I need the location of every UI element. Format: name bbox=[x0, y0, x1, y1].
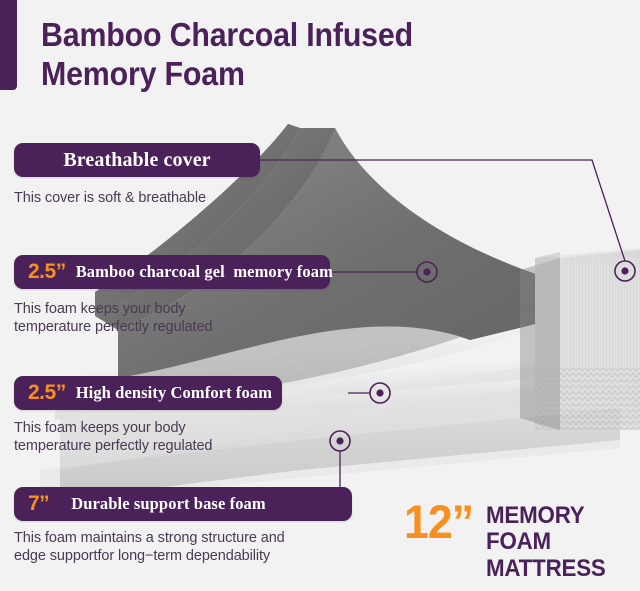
infographic-canvas: Bamboo Charcoal Infused Memory Foam Brea… bbox=[0, 0, 640, 591]
layer-thickness: 2.5” bbox=[28, 260, 66, 284]
layer-description-high-density-comfort: This foam keeps your body temperature pe… bbox=[14, 420, 284, 455]
product-size-lockup: 12” MEMORY FOAM MATTRESS bbox=[404, 500, 640, 582]
page-title: Bamboo Charcoal Infused Memory Foam bbox=[41, 16, 473, 94]
layer-badge-high-density-comfort[interactable]: 2.5” High density Comfort foam bbox=[14, 376, 282, 410]
marker-gel-foam bbox=[417, 262, 437, 282]
layer-badge-bamboo-charcoal-gel[interactable]: 2.5” Bamboo charcoal gel memory foam bbox=[14, 255, 330, 289]
layer-description-bamboo-charcoal-gel: This foam keeps your body temperature pe… bbox=[14, 301, 284, 336]
layer-label: Bamboo charcoal gel memory foam bbox=[76, 262, 333, 282]
layer-description-breathable-cover: This cover is soft & breathable bbox=[14, 190, 274, 208]
marker-comfort-foam bbox=[370, 383, 390, 403]
layer-badge-breathable-cover[interactable]: Breathable cover bbox=[14, 143, 260, 177]
product-name: MEMORY FOAM MATTRESS bbox=[486, 500, 629, 582]
layer-thickness: 2.5” bbox=[28, 381, 66, 405]
layer-description-durable-support-base: This foam maintains a strong structure a… bbox=[14, 530, 354, 565]
header-accent-bar bbox=[0, 0, 17, 90]
product-size: 12” bbox=[404, 500, 473, 543]
layer-label: Breathable cover bbox=[63, 149, 210, 172]
marker-cover bbox=[615, 261, 635, 281]
layer-label: Durable support base foam bbox=[71, 494, 266, 514]
layer-thickness: 7” bbox=[28, 492, 49, 516]
layer-badge-durable-support-base[interactable]: 7” Durable support base foam bbox=[14, 487, 352, 521]
marker-base-foam bbox=[330, 431, 350, 451]
layer-label: High density Comfort foam bbox=[76, 383, 272, 403]
